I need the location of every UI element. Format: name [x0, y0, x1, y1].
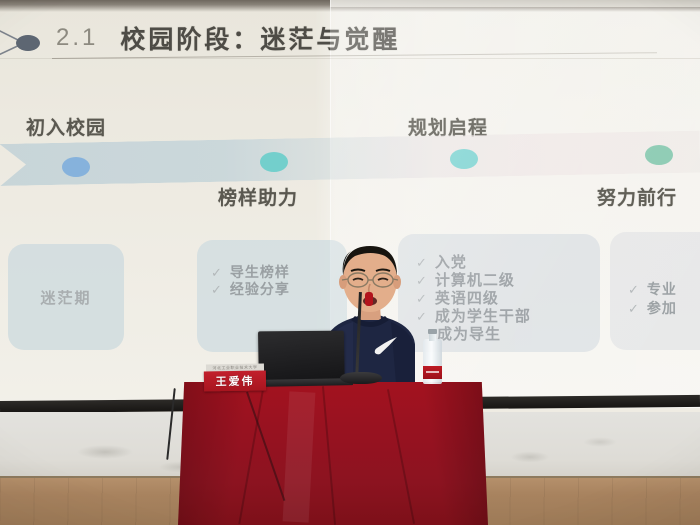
list-item: ✓ 参加 [628, 299, 700, 318]
card-4-item-2: 参加 [647, 299, 677, 317]
water-bottle [423, 330, 442, 384]
node-graphic-icon [0, 24, 60, 60]
list-item: ✓ 成为学生干部 [416, 308, 594, 326]
laptop-screen [258, 331, 345, 385]
timeline-dot-3 [450, 149, 478, 169]
cloth-highlight [283, 391, 316, 522]
slide-title-text: 校园阶段：迷茫与觉醒 [120, 20, 400, 56]
card-3-item-3: 英语四级 [435, 290, 499, 308]
lecture-photo-scene: 2.1 校园阶段：迷茫与觉醒 初入校园 榜样助力 规划启程 努力前行 迷茫期 ✓… [0, 0, 700, 525]
list-item: ✓ 专业 [628, 280, 700, 299]
card-4-item-1: 专业 [647, 280, 677, 298]
stage-label-4: 努力前行 [597, 183, 677, 210]
check-icon: ✓ [628, 281, 640, 299]
cloth-fold [322, 386, 336, 525]
card-3-bullet-list: ✓ 入党 ✓ 计算机二级 ✓ 英语四级 ✓ 成为学生干部 成为导生 [416, 254, 594, 344]
slide-title: 2.1 校园阶段：迷茫与觉醒 [56, 18, 576, 58]
stage-label-1: 初入校园 [26, 113, 106, 140]
bottle-label [423, 366, 442, 379]
check-icon: ✓ [628, 300, 640, 318]
red-tablecloth [178, 382, 488, 525]
content-card-1: 迷茫期 [8, 244, 124, 350]
card-3-item-1: 入党 [435, 254, 467, 272]
bottle-cap [428, 329, 437, 334]
screen-frame-top-edge [330, 0, 700, 7]
presenter-name: 王爱伟 [215, 373, 254, 390]
microphone-base [340, 372, 382, 384]
check-icon: ✓ [211, 281, 223, 298]
stage-label-2: 榜样助力 [218, 183, 298, 210]
list-item: ✓ 入党 [416, 254, 594, 272]
list-item: ✓ 英语四级 [416, 290, 594, 308]
timeline-dot-4 [645, 145, 673, 165]
list-item: ✓ 计算机二级 [416, 272, 594, 290]
cloth-fold [238, 391, 263, 524]
card-1-center-text: 迷茫期 [8, 244, 124, 350]
content-card-4: ✓ 专业 ✓ 参加 [610, 232, 700, 350]
cloth-fold [387, 389, 415, 524]
card-2-item-1: 导生榜样 [230, 264, 290, 281]
list-item: 成为导生 [416, 326, 594, 344]
timeline-dot-2 [260, 152, 288, 172]
card-2-item-2: 经验分享 [230, 281, 290, 298]
check-icon: ✓ [211, 264, 223, 281]
card-3-item-2: 计算机二级 [435, 272, 515, 290]
timeline-dot-1 [62, 157, 90, 177]
card-4-bullet-list: ✓ 专业 ✓ 参加 [628, 280, 700, 318]
card-3-item-5: 成为导生 [437, 326, 501, 344]
slide-title-number: 2.1 [56, 24, 98, 52]
microphone-head [365, 292, 373, 306]
card-3-item-4: 成为学生干部 [435, 308, 531, 326]
presenter-nameplate: 王爱伟 [204, 370, 266, 391]
